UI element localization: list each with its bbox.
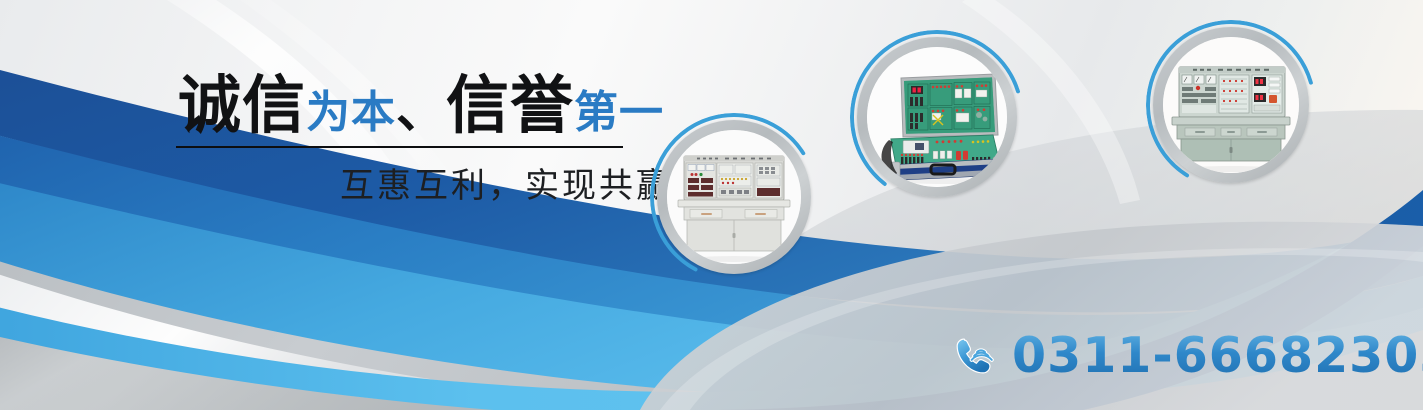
product-image-2: [867, 47, 1007, 187]
headline: 诚信为本、信誉第一: [178, 74, 664, 137]
product-circle-1: [650, 113, 818, 281]
product-image-1: [667, 130, 801, 264]
headline-separator: 、: [396, 81, 446, 139]
contact-block[interactable]: 0311-66682303: [952, 327, 1423, 384]
product-image-3: [1163, 37, 1299, 173]
phone-number[interactable]: 0311-66682303: [1012, 327, 1423, 384]
subtitle: 互惠互利，实现共赢: [340, 158, 673, 207]
headline-part-2: 为本: [306, 87, 396, 138]
headline-divider: [176, 146, 623, 148]
headline-part-4: 信誉: [446, 69, 574, 142]
phone-icon: [952, 333, 998, 379]
product-circle-3: [1146, 20, 1316, 190]
headline-part-1: 诚信: [178, 69, 306, 142]
promo-banner: 诚信为本、信誉第一 互惠互利，实现共赢: [0, 0, 1423, 410]
product-circle-2: [850, 30, 1024, 204]
headline-part-5: 第一: [574, 87, 664, 138]
